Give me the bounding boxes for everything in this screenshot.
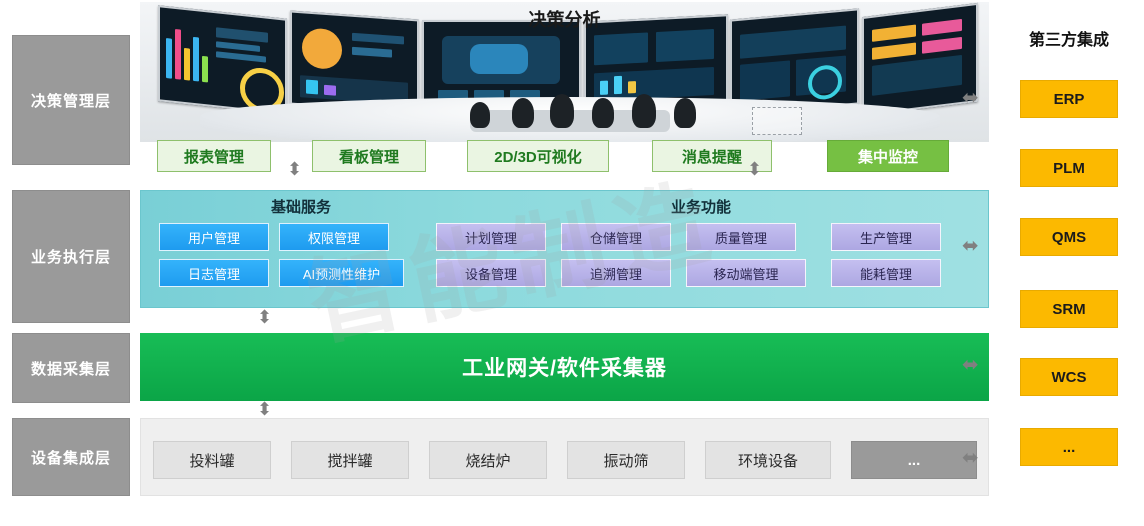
decision-analysis-title: 决策分析 xyxy=(140,6,989,32)
tile-label: 移动端管理 xyxy=(713,264,778,283)
person-silhouette xyxy=(632,94,656,128)
tile-plan-management[interactable]: 计划管理 xyxy=(436,223,546,251)
tile-label: 权限管理 xyxy=(308,228,360,247)
third-party-label: WCS xyxy=(1052,369,1087,386)
decision-capsule-row: 报表管理 看板管理 2D/3D可视化 消息提醒 集中监控 xyxy=(137,140,992,174)
device-environment-equipment[interactable]: 环境设备 xyxy=(705,441,831,479)
third-party-label: QMS xyxy=(1052,229,1086,246)
third-party-plm[interactable]: PLM xyxy=(1020,149,1118,187)
tile-label: 计划管理 xyxy=(465,228,517,247)
person-silhouette xyxy=(674,98,696,128)
tile-label: 生产管理 xyxy=(860,228,912,247)
tile-permission-management[interactable]: 权限管理 xyxy=(279,223,389,251)
third-party-column: 第三方集成 ERP PLM QMS SRM WCS ... xyxy=(1006,0,1132,508)
capsule-label: 报表管理 xyxy=(184,146,244,167)
device-mixing-tank[interactable]: 搅拌罐 xyxy=(291,441,409,479)
third-party-title: 第三方集成 xyxy=(1006,26,1132,50)
arrow-horizontal-icon: ⬌ xyxy=(962,448,979,468)
layer-decision-management: 决策管理层 xyxy=(12,35,130,165)
tile-log-management[interactable]: 日志管理 xyxy=(159,259,269,287)
capsule-2d3d-visualization[interactable]: 2D/3D可视化 xyxy=(467,140,609,172)
business-functions-heading: 业务功能 xyxy=(671,196,731,217)
third-party-label: PLM xyxy=(1053,160,1085,177)
decision-visualization-panel: 决策分析 xyxy=(140,2,989,142)
tile-label: 设备管理 xyxy=(465,264,517,283)
person-silhouette xyxy=(512,98,534,128)
person-silhouette xyxy=(550,94,574,128)
arrow-vertical-icon: ⬍ xyxy=(747,160,762,178)
business-execution-band: 基础服务 业务功能 用户管理 权限管理 日志管理 AI预测性维护 计划管理 仓储… xyxy=(140,190,989,308)
device-label: 投料罐 xyxy=(189,450,234,471)
tile-label: 用户管理 xyxy=(188,228,240,247)
layer-business-execution: 业务执行层 xyxy=(12,190,130,323)
device-integration-band: 投料罐 搅拌罐 烧结炉 振动筛 环境设备 ... xyxy=(140,418,989,496)
device-label: ... xyxy=(908,452,921,469)
tile-quality-management[interactable]: 质量管理 xyxy=(686,223,796,251)
tile-label: 日志管理 xyxy=(188,264,240,283)
capsule-label: 消息提醒 xyxy=(682,146,742,167)
tile-equipment-management[interactable]: 设备管理 xyxy=(436,259,546,287)
capsule-report-management[interactable]: 报表管理 xyxy=(157,140,271,172)
tile-traceability-management[interactable]: 追溯管理 xyxy=(561,259,671,287)
tile-production-management[interactable]: 生产管理 xyxy=(831,223,941,251)
device-more[interactable]: ... xyxy=(851,441,977,479)
layer-data-collection: 数据采集层 xyxy=(12,333,130,403)
capsule-central-monitoring[interactable]: 集中监控 xyxy=(827,140,949,172)
basic-services-heading: 基础服务 xyxy=(271,196,331,217)
third-party-label: SRM xyxy=(1052,301,1085,318)
layer-label: 决策管理层 xyxy=(31,90,111,111)
data-collection-bar: 工业网关/软件采集器 xyxy=(140,333,989,401)
tile-label: 能耗管理 xyxy=(860,264,912,283)
arrow-vertical-icon: ⬍ xyxy=(287,160,302,178)
tile-label: 追溯管理 xyxy=(590,264,642,283)
third-party-label: ERP xyxy=(1054,91,1085,108)
diagram-center: 智能制造 决策分析 xyxy=(137,0,992,508)
third-party-qms[interactable]: QMS xyxy=(1020,218,1118,256)
capsule-label: 2D/3D可视化 xyxy=(494,146,582,167)
arrow-vertical-icon: ⬍ xyxy=(257,400,272,418)
third-party-erp[interactable]: ERP xyxy=(1020,80,1118,118)
capsule-board-management[interactable]: 看板管理 xyxy=(312,140,426,172)
arrow-vertical-icon: ⬍ xyxy=(257,308,272,326)
tile-label: 质量管理 xyxy=(715,228,767,247)
tile-user-management[interactable]: 用户管理 xyxy=(159,223,269,251)
device-label: 搅拌罐 xyxy=(327,450,372,471)
capsule-label: 看板管理 xyxy=(339,146,399,167)
third-party-wcs[interactable]: WCS xyxy=(1020,358,1118,396)
tile-energy-management[interactable]: 能耗管理 xyxy=(831,259,941,287)
tile-ai-predictive-maintenance[interactable]: AI预测性维护 xyxy=(279,259,404,287)
tile-label: 仓储管理 xyxy=(590,228,642,247)
third-party-srm[interactable]: SRM xyxy=(1020,290,1118,328)
third-party-label: ... xyxy=(1063,439,1076,456)
capsule-label: 集中监控 xyxy=(858,146,918,167)
data-collection-label: 工业网关/软件采集器 xyxy=(462,352,667,382)
layer-label: 设备集成层 xyxy=(31,447,111,468)
tile-mobile-management[interactable]: 移动端管理 xyxy=(686,259,806,287)
device-label: 环境设备 xyxy=(738,450,798,471)
arrow-horizontal-icon: ⬌ xyxy=(962,355,979,375)
tile-label: AI预测性维护 xyxy=(303,264,380,283)
device-feed-tank[interactable]: 投料罐 xyxy=(153,441,271,479)
device-sintering-furnace[interactable]: 烧结炉 xyxy=(429,441,547,479)
layer-column: 决策管理层 业务执行层 数据采集层 设备集成层 xyxy=(12,0,130,508)
tile-warehouse-management[interactable]: 仓储管理 xyxy=(561,223,671,251)
device-vibrating-screen[interactable]: 振动筛 xyxy=(567,441,685,479)
arrow-horizontal-icon: ⬌ xyxy=(962,236,979,256)
layer-label: 数据采集层 xyxy=(31,358,111,379)
device-label: 振动筛 xyxy=(603,450,648,471)
placeholder-box xyxy=(752,107,802,135)
person-silhouette xyxy=(470,102,490,128)
arrow-horizontal-icon: ⬌ xyxy=(962,88,979,108)
person-silhouette xyxy=(592,98,614,128)
third-party-more[interactable]: ... xyxy=(1020,428,1118,466)
layer-device-integration: 设备集成层 xyxy=(12,418,130,496)
layer-label: 业务执行层 xyxy=(31,246,111,267)
device-label: 烧结炉 xyxy=(465,450,510,471)
